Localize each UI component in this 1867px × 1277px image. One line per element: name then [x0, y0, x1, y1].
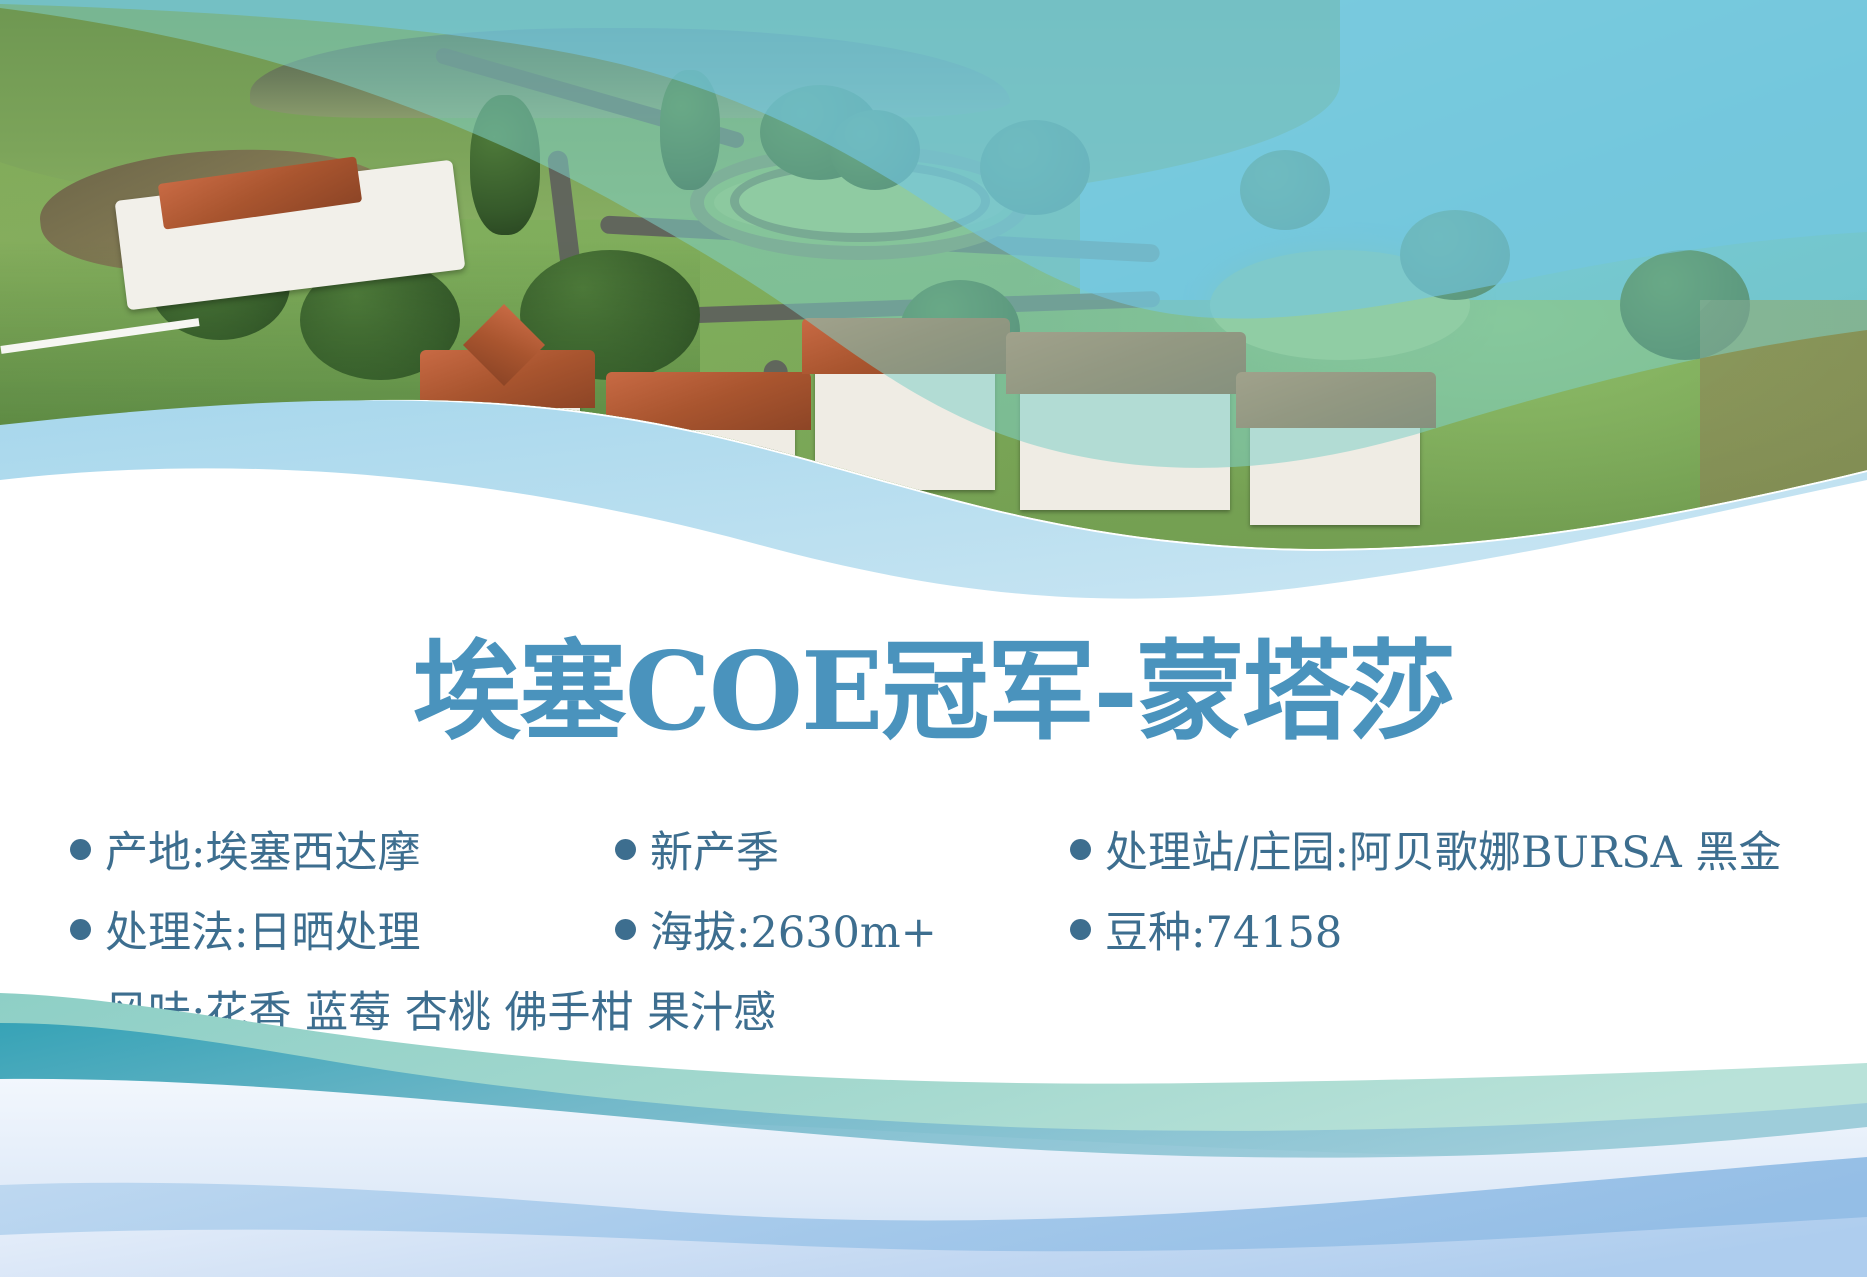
info-item-text: 豆种:74158	[1105, 898, 1342, 960]
info-item-text: 产地:埃塞西达摩	[105, 818, 421, 880]
info-row: 产地:埃塞西达摩 新产季 处理站/庄园:阿贝歌娜BURSA 黑金	[70, 818, 1830, 898]
photo-tree	[980, 120, 1090, 215]
info-row: 处理法:日晒处理 海拔:2630m+ 豆种:74158	[70, 898, 1830, 978]
info-item-season: 新产季	[615, 818, 779, 880]
bullet-icon	[70, 839, 91, 860]
photo-tree	[1240, 150, 1330, 230]
bullet-icon	[615, 919, 636, 940]
bullet-icon	[1070, 919, 1091, 940]
page-title: 埃塞COE冠军-蒙塔莎	[0, 636, 1867, 749]
bullet-icon	[615, 839, 636, 860]
info-item-text: 处理站/庄园:阿贝歌娜BURSA 黑金	[1105, 818, 1781, 880]
info-item-origin: 产地:埃塞西达摩	[70, 818, 421, 880]
info-item-text: 处理法:日晒处理	[105, 898, 421, 960]
photo-tree	[470, 95, 540, 235]
photo-tree	[1400, 210, 1510, 300]
photo-tree	[830, 110, 920, 190]
info-item-process: 处理法:日晒处理	[70, 898, 421, 960]
bullet-icon	[70, 919, 91, 940]
footer-wave-decoration	[0, 977, 1867, 1277]
photo-tree	[660, 70, 720, 190]
info-item-altitude: 海拔:2630m+	[615, 898, 937, 960]
info-item-text: 新产季	[650, 818, 779, 880]
info-item-text: 海拔:2630m+	[650, 898, 937, 960]
bullet-icon	[1070, 839, 1091, 860]
poster-canvas: 埃塞COE冠军-蒙塔莎 产地:埃塞西达摩 新产季 处理站/庄园:阿贝歌娜BURS…	[0, 0, 1867, 1277]
info-item-varietal: 豆种:74158	[1070, 898, 1342, 960]
info-item-washing-station: 处理站/庄园:阿贝歌娜BURSA 黑金	[1070, 818, 1781, 880]
